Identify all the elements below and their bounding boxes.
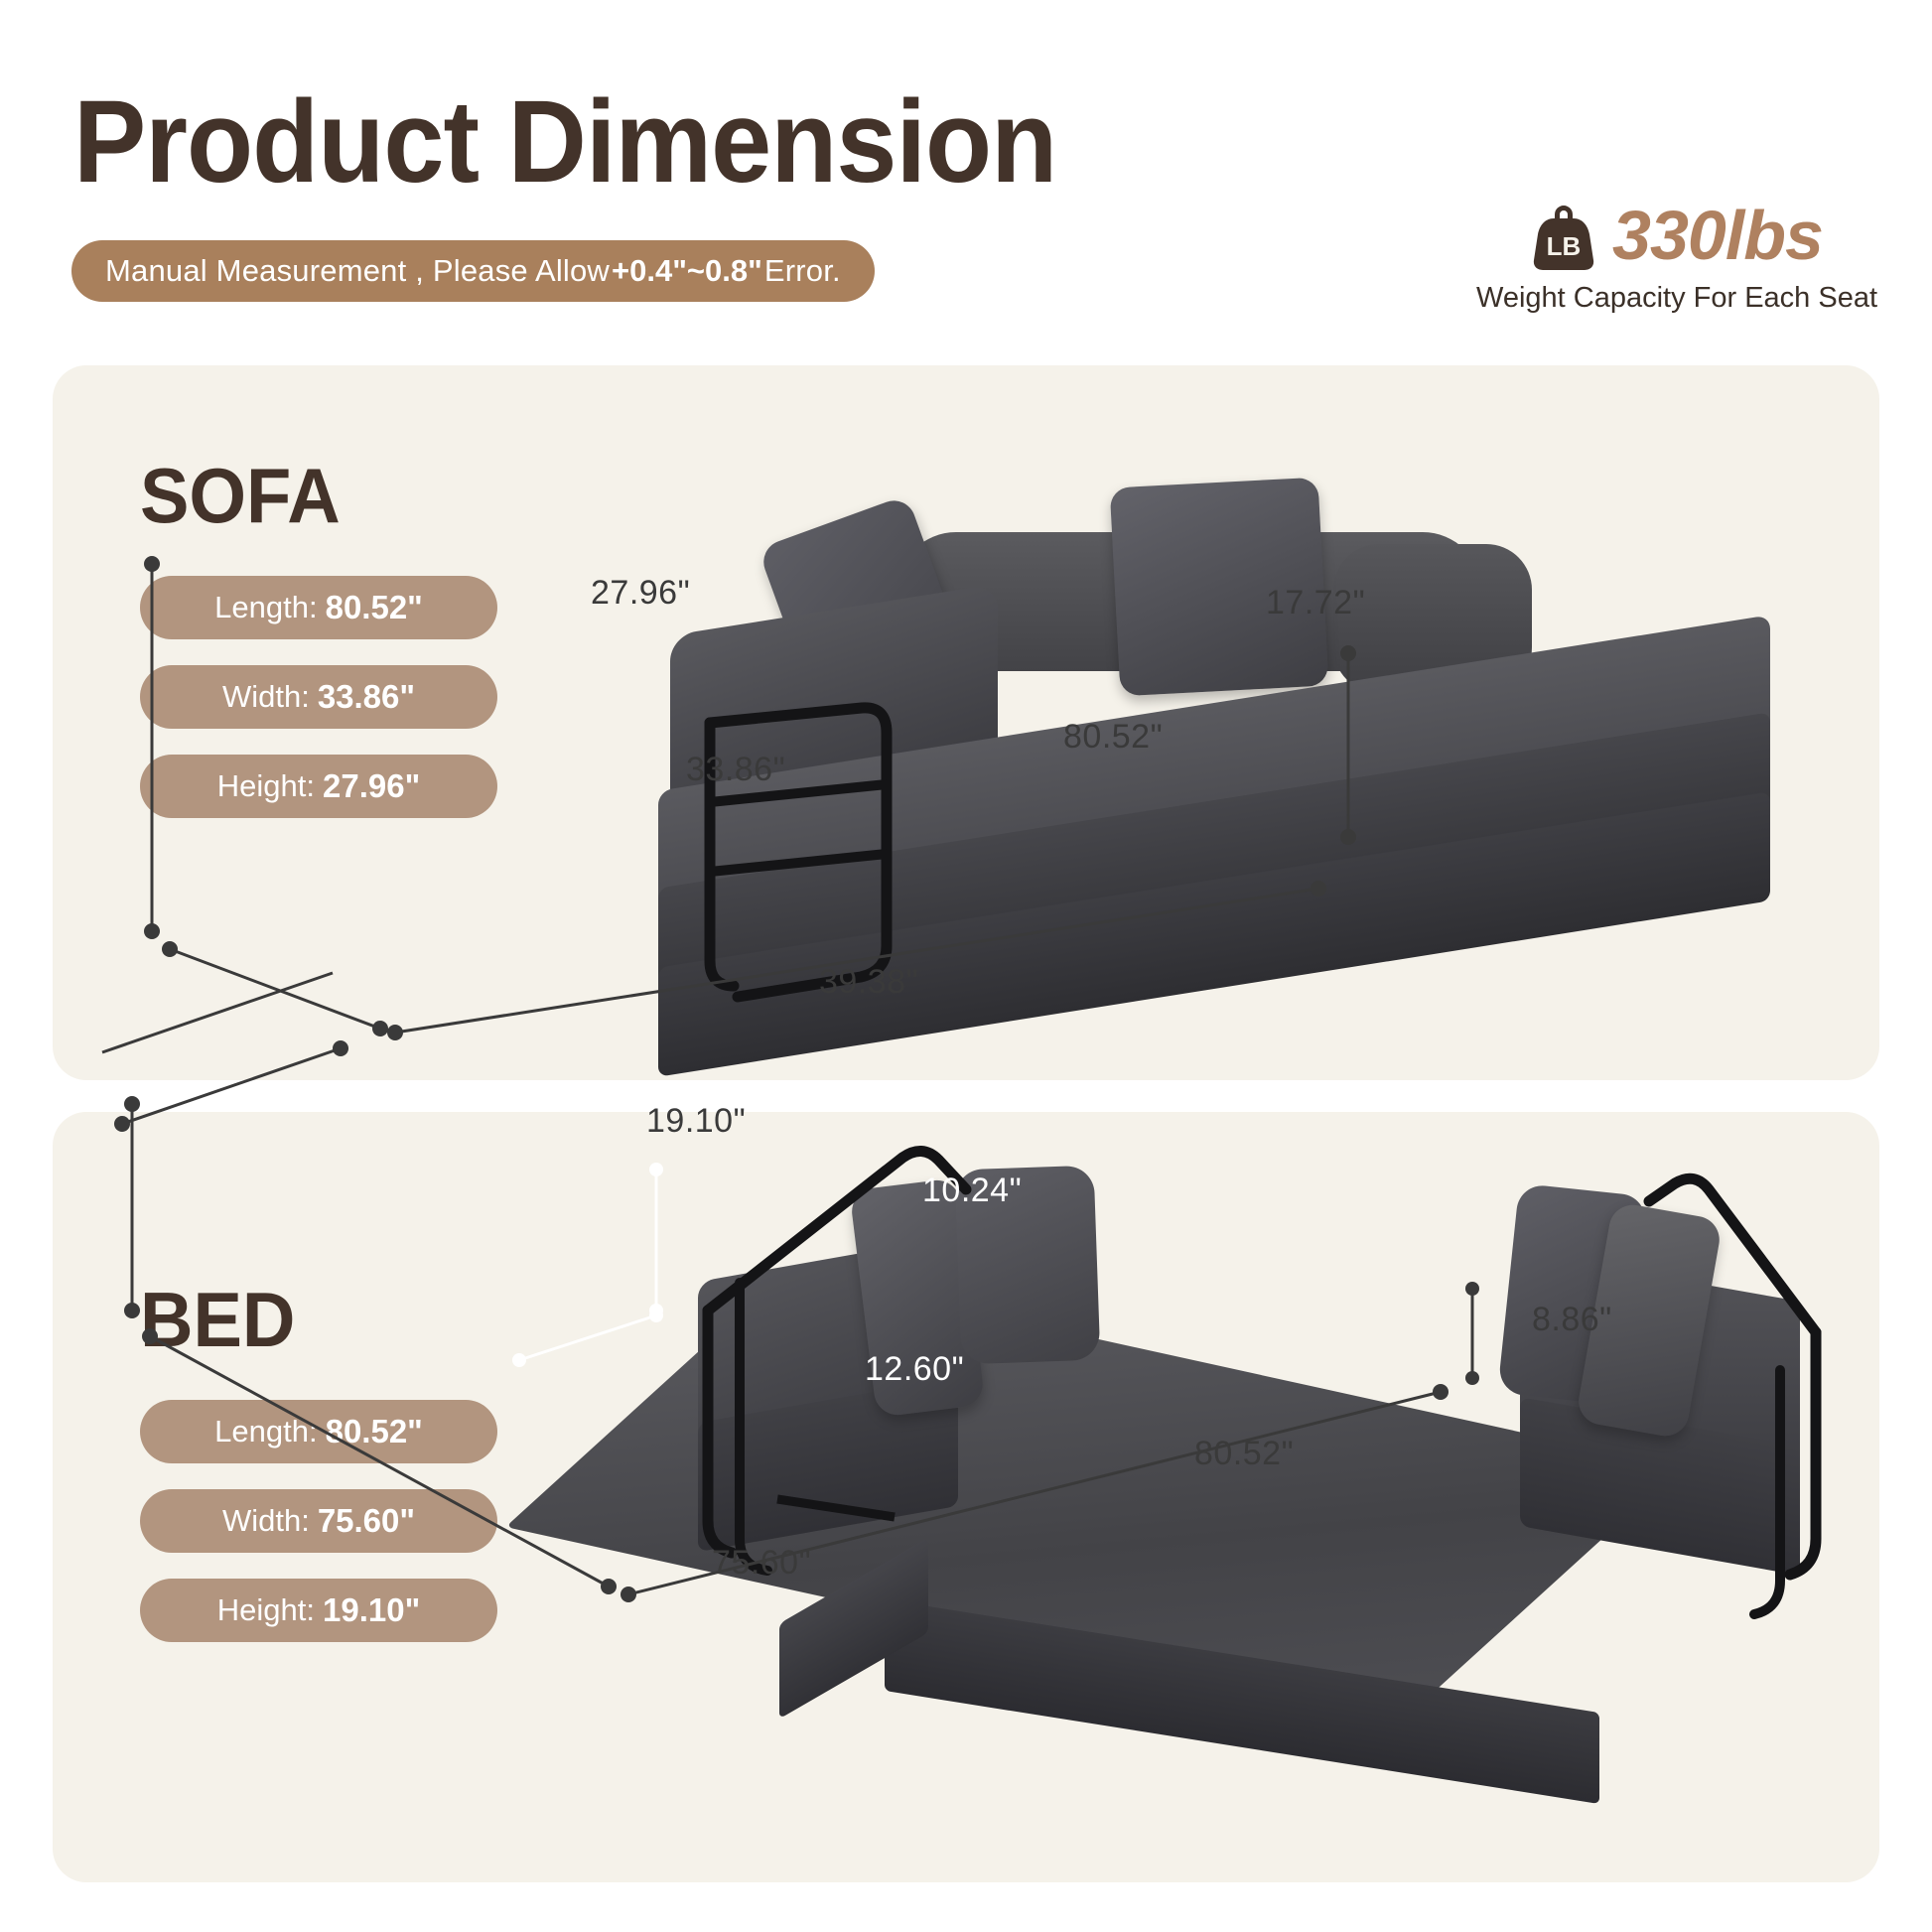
sofa-height-label: Height: <box>217 768 315 804</box>
bed-dim-arm-depth: 12.60" <box>865 1350 964 1389</box>
sofa-height-value: 27.96" <box>323 767 420 805</box>
sofa-metal-frame <box>648 405 1820 1040</box>
sofa-dim-side-height: 17.72" <box>1266 584 1365 622</box>
measurement-note-prefix: Manual Measurement , Please Allow <box>105 253 610 289</box>
bed-spec-column: BED Length: 80.52" Width: 75.60" Height:… <box>140 1281 497 1668</box>
page-header: Product Dimension Manual Measurement , P… <box>0 0 1932 357</box>
measurement-tolerance: +0.4"~0.8" <box>610 253 764 289</box>
sofa-length-label: Length: <box>214 590 317 625</box>
bed-width-label: Width: <box>222 1503 310 1539</box>
bed-length-value: 80.52" <box>326 1413 423 1450</box>
bed-card: BED Length: 80.52" Width: 75.60" Height:… <box>53 1112 1879 1882</box>
bed-metal-frames <box>668 1072 1879 1886</box>
weight-capacity-badge: LB 330lbs Weight Capacity For Each Seat <box>1473 199 1880 315</box>
sofa-spec-length: Length: 80.52" <box>140 576 497 639</box>
bed-spec-height: Height: 19.10" <box>140 1579 497 1642</box>
sofa-spec-width: Width: 33.86" <box>140 665 497 729</box>
sofa-spec-column: SOFA Length: 80.52" Width: 33.86" Height… <box>140 457 497 844</box>
sofa-dim-depth: 33.86" <box>686 751 785 789</box>
weight-capacity-value: 330lbs <box>1612 201 1823 270</box>
bed-illustration <box>668 1072 1879 1886</box>
bed-spec-length: Length: 80.52" <box>140 1400 497 1463</box>
sofa-width-label: Width: <box>222 679 310 715</box>
bed-length-label: Length: <box>214 1414 317 1449</box>
bed-heading: BED <box>140 1281 480 1358</box>
sofa-dim-height: 27.96" <box>591 574 690 613</box>
weight-capacity-caption: Weight Capacity For Each Seat <box>1476 282 1877 315</box>
bed-height-value: 19.10" <box>323 1591 420 1629</box>
bed-dim-arm-height: 10.24" <box>922 1172 1022 1210</box>
sofa-length-value: 80.52" <box>326 589 423 626</box>
bed-dim-length: 80.52" <box>1194 1435 1294 1473</box>
svg-text:LB: LB <box>1547 231 1582 261</box>
bed-dim-side-height: 8.86" <box>1532 1301 1612 1339</box>
sofa-card: SOFA Length: 80.52" Width: 33.86" Height… <box>53 365 1879 1080</box>
sofa-spec-height: Height: 27.96" <box>140 755 497 818</box>
measurement-note-suffix: Error. <box>764 253 841 289</box>
measurement-note-pill: Manual Measurement , Please Allow +0.4"~… <box>71 240 875 302</box>
weight-lb-icon: LB <box>1531 199 1596 272</box>
bed-dim-height: 19.10" <box>646 1102 746 1141</box>
sofa-heading: SOFA <box>140 457 480 534</box>
bed-dim-width: 75.60" <box>712 1544 811 1583</box>
bed-dim-arm-width: 39.38" <box>819 963 918 1002</box>
weight-capacity-row: LB 330lbs <box>1531 199 1823 272</box>
bed-width-value: 75.60" <box>318 1502 415 1540</box>
bed-height-label: Height: <box>217 1592 315 1628</box>
sofa-dim-length: 80.52" <box>1063 718 1163 757</box>
sofa-illustration <box>648 405 1820 1040</box>
bed-spec-width: Width: 75.60" <box>140 1489 497 1553</box>
sofa-width-value: 33.86" <box>318 678 415 716</box>
page-title: Product Dimension <box>73 81 1056 205</box>
